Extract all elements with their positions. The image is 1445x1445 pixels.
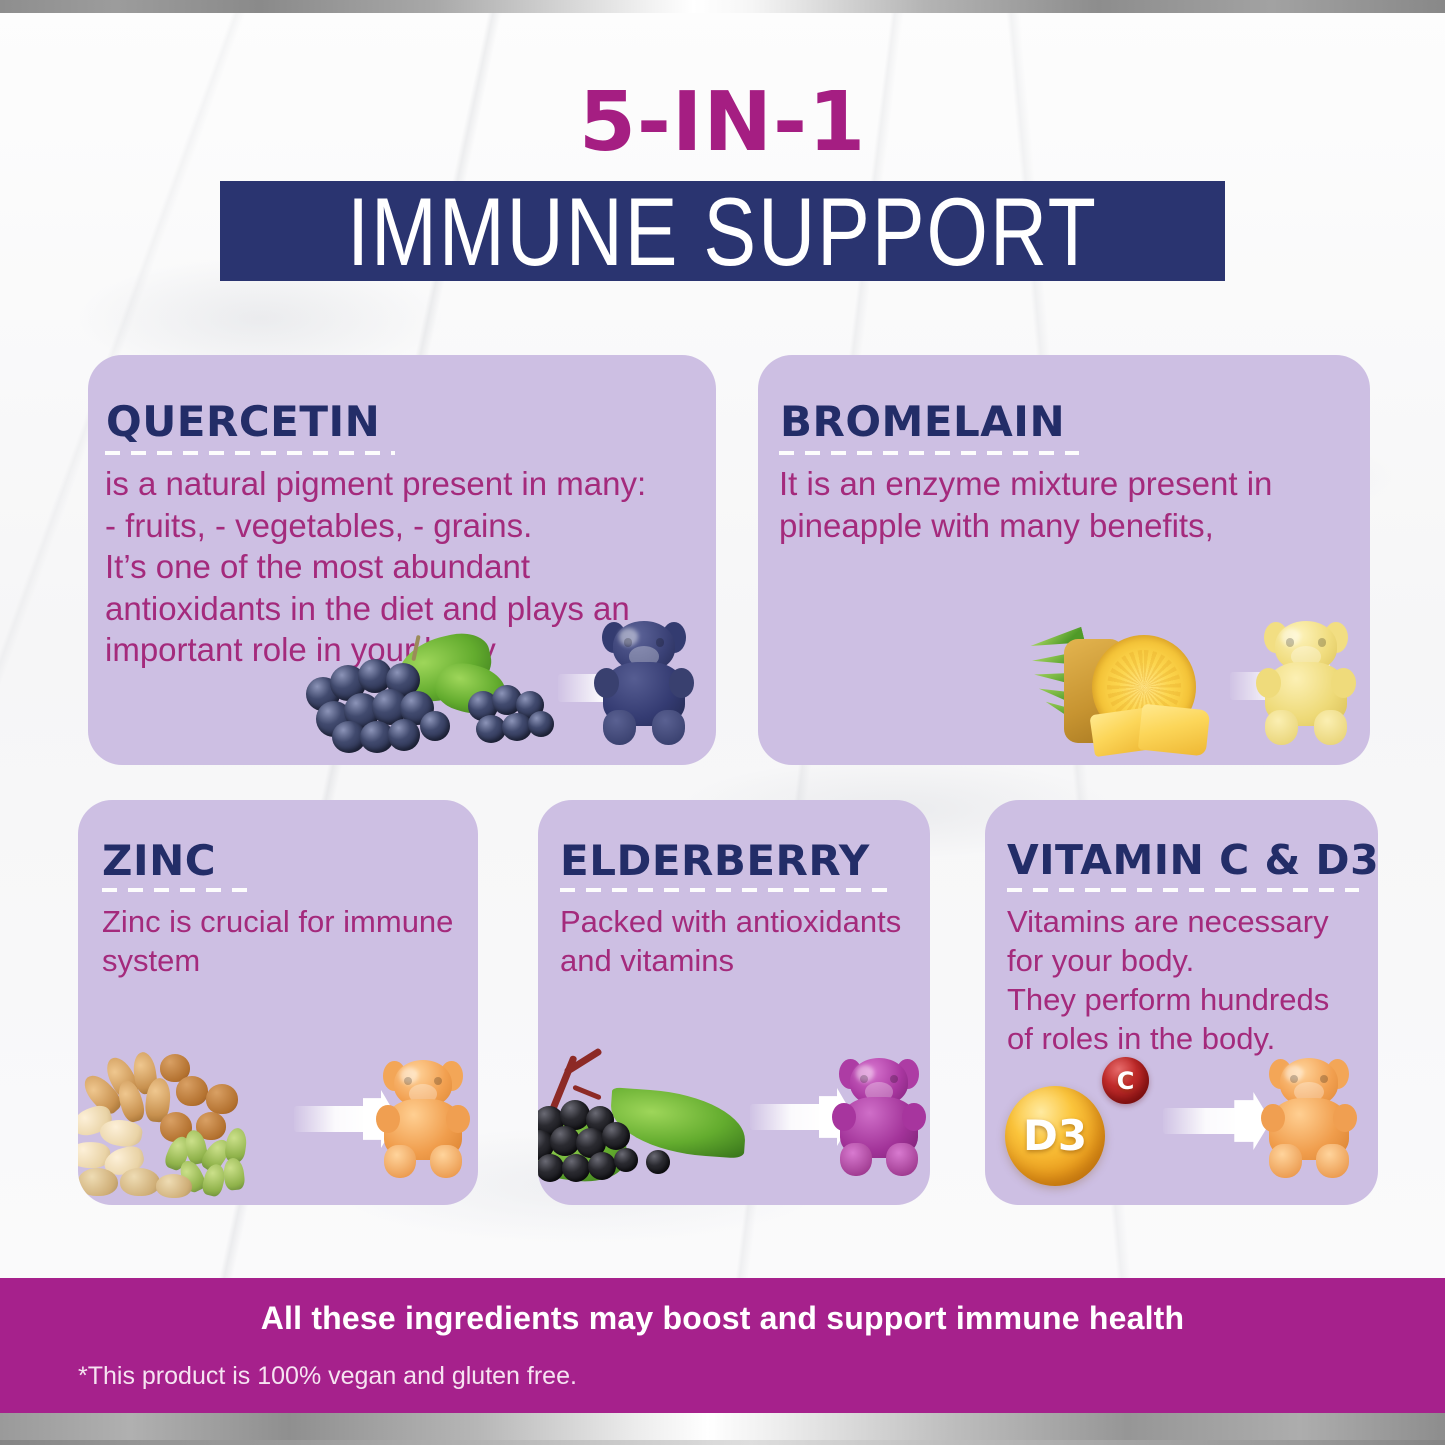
infographic-page: 5-IN-1 IMMUNE SUPPORT QUERCETIN is a nat…: [0, 0, 1445, 1445]
ingredient-card-vitamins: VITAMIN C & D3 Vitamins are necessary fo…: [985, 800, 1378, 1205]
ingredient-card-zinc: ZINC Zinc is crucial for immune system: [78, 800, 478, 1205]
card-body: Zinc is crucial for immune system: [102, 902, 478, 980]
card-divider: [102, 888, 252, 892]
card-title: ELDERBERRY: [560, 836, 870, 885]
card-title: QUERCETIN: [106, 397, 380, 446]
grapes-cluster-image: [300, 635, 560, 753]
elderberry-cluster-image: [538, 1050, 776, 1200]
elderberry-stem: [572, 1085, 602, 1101]
ingredient-card-quercetin: QUERCETIN is a natural pigment present i…: [88, 355, 716, 765]
footer-banner: All these ingredients may boost and supp…: [0, 1278, 1445, 1413]
title-bar: IMMUNE SUPPORT: [220, 181, 1225, 281]
card-divider: [779, 451, 1079, 455]
vitamin-d3-sphere: D3: [1005, 1086, 1105, 1186]
card-title: BROMELAIN: [780, 397, 1065, 446]
mixed-nuts-and-seeds-image: [78, 1050, 304, 1200]
vitamin-c-sphere: C: [1102, 1057, 1149, 1104]
footer-headline: All these ingredients may boost and supp…: [0, 1300, 1445, 1337]
top-metallic-strip: [0, 0, 1445, 13]
blue-gummy-bear: [596, 621, 692, 745]
vitamin-c-label: C: [1117, 1069, 1135, 1093]
page-title: IMMUNE SUPPORT: [347, 183, 1098, 279]
card-divider: [1007, 888, 1359, 892]
footer-note: *This product is 100% vegan and gluten f…: [78, 1362, 577, 1391]
card-title: VITAMIN C & D3: [1007, 836, 1378, 884]
ingredient-card-elderberry: ELDERBERRY Packed with antioxidants and …: [538, 800, 930, 1205]
vitamin-d3-label: D3: [1023, 1115, 1087, 1157]
yellow-gummy-bear: [1258, 621, 1354, 745]
orange-gummy-bear: [1263, 1058, 1355, 1178]
pineapple-slice-image: [1030, 625, 1245, 757]
card-title: ZINC: [102, 836, 216, 885]
card-divider: [105, 451, 395, 455]
header: 5-IN-1 IMMUNE SUPPORT: [0, 82, 1445, 281]
pineapple-wedge: [1138, 704, 1210, 757]
purple-gummy-bear: [834, 1058, 924, 1176]
bottom-metallic-strip: [0, 1413, 1445, 1445]
ingredient-card-bromelain: BROMELAIN It is an enzyme mixture presen…: [758, 355, 1370, 765]
card-body: Vitamins are necessary for your body. Th…: [1007, 902, 1378, 1058]
card-divider: [560, 888, 890, 892]
orange-gummy-bear: [378, 1060, 468, 1178]
card-body: It is an enzyme mixture present in pinea…: [779, 463, 1349, 546]
page-eyebrow: 5-IN-1: [0, 82, 1445, 164]
right-arrow-icon: [1163, 1092, 1271, 1150]
card-body: Packed with antioxidants and vitamins: [560, 902, 930, 980]
